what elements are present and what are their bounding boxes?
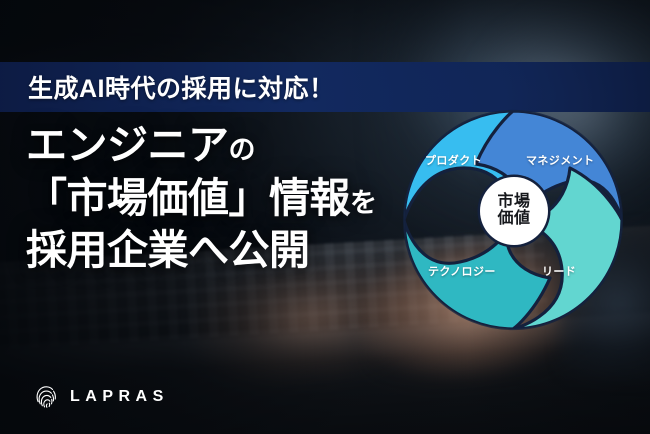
petal-label-technology: テクノロジー	[428, 263, 496, 279]
fingerprint-icon	[34, 383, 59, 410]
headline-line-2-suffix: を	[350, 188, 377, 218]
diagram-center-circle: 市場 価値	[480, 177, 548, 245]
banner-text: 生成AI時代の採用に対応！	[28, 62, 335, 112]
petal-label-product: プロダクト	[425, 152, 482, 168]
headline-block: エンジニアの 「市場価値」情報を 採用企業へ公開	[26, 122, 377, 280]
logo-wordmark: LAPRAS	[70, 388, 169, 406]
headline-line-1-suffix: の	[229, 135, 256, 165]
petal-label-lead: リード	[542, 263, 576, 279]
promo-banner-image: 生成AI時代の採用に対応！ エンジニアの 「市場価値」情報を 採用企業へ公開 プ	[0, 0, 650, 434]
market-value-swirl-diagram: プロダクト マネジメント テクノロジー リード 市場 価値	[398, 108, 628, 333]
headline-line-2-main: 「市場価値」情報	[26, 175, 350, 221]
headline-line-3: 採用企業へ公開	[26, 227, 377, 275]
headline-line-2: 「市場価値」情報を	[26, 175, 377, 223]
center-text-line-1: 市場	[497, 194, 530, 211]
brand-logo: LAPRAS	[34, 383, 169, 410]
headline-line-1-main: エンジニア	[26, 122, 229, 168]
headline-line-3-main: 採用企業へ公開	[26, 227, 310, 273]
headline-line-1: エンジニアの	[26, 122, 377, 170]
petal-label-management: マネジメント	[526, 152, 594, 168]
center-text-line-2: 価値	[497, 211, 530, 228]
